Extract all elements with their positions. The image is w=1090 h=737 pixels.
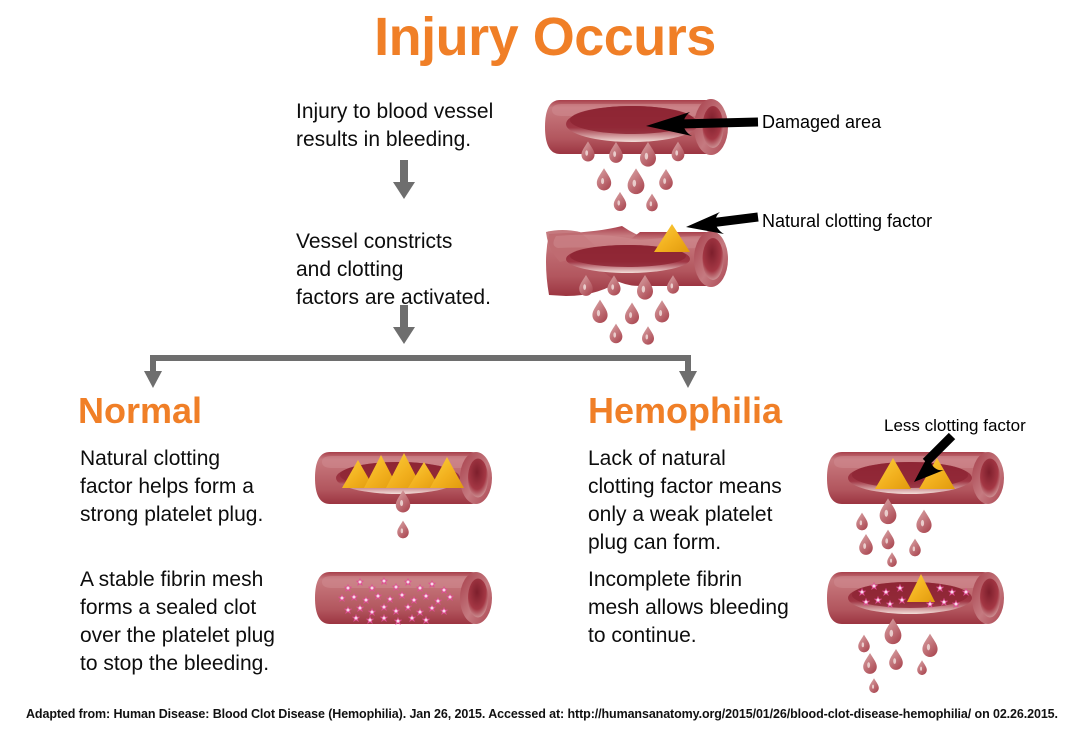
step-2-description: Vessel constricts and clotting factors a… xyxy=(296,228,546,312)
branch-title-hemophilia: Hemophilia xyxy=(588,392,782,430)
callout-label-natural-clotting-factor: Natural clotting factor xyxy=(762,211,932,232)
clotting-factor-triangles-hemophilia xyxy=(875,458,955,489)
infographic-canvas: Injury Occurs Injury to blood vessel res… xyxy=(0,0,1090,737)
fibrin-mesh-sparse xyxy=(858,582,970,608)
illustration-hemophilia-incomplete-mesh xyxy=(827,572,1004,693)
clotting-factor-triangle-step2 xyxy=(654,224,690,252)
illustration-normal-fibrin-mesh xyxy=(315,572,492,625)
fibrin-mesh-dense xyxy=(338,577,454,625)
pointer-arrow-natural-clotting-factor xyxy=(686,212,758,234)
blood-drops-hemophilia-row2 xyxy=(858,618,937,693)
illustration-hemophilia-weak-plug xyxy=(827,436,1004,567)
clotting-factor-triangle-hemophilia-row2 xyxy=(907,574,935,602)
blood-drops-hemophilia-row1 xyxy=(856,498,931,567)
normal-row-1-description: Natural clotting factor helps form a str… xyxy=(80,445,320,529)
blood-drops-step1 xyxy=(581,141,684,211)
hemophilia-row-1-description: Lack of natural clotting factor means on… xyxy=(588,445,838,557)
normal-row-2-description: A stable fibrin mesh forms a sealed clot… xyxy=(80,566,330,678)
clotting-factor-triangles-normal xyxy=(342,453,464,488)
callout-label-damaged-area: Damaged area xyxy=(762,112,881,133)
pointer-arrow-damaged-area xyxy=(646,112,758,136)
step-1-description: Injury to blood vessel results in bleedi… xyxy=(296,98,556,154)
source-citation: Adapted from: Human Disease: Blood Clot … xyxy=(26,707,1071,721)
branch-connector xyxy=(144,355,697,388)
pointer-arrow-less-clotting-factor xyxy=(914,436,952,482)
flow-arrow-step1-to-step2 xyxy=(393,160,415,199)
callout-label-less-clotting-factor: Less clotting factor xyxy=(884,416,1026,436)
blood-drops-step2 xyxy=(579,275,679,345)
illustration-normal-platelet-plug xyxy=(315,452,492,538)
branch-title-normal: Normal xyxy=(78,392,202,430)
blood-drops-normal-row1 xyxy=(396,490,410,538)
hemophilia-row-2-description: Incomplete fibrin mesh allows bleeding t… xyxy=(588,566,828,650)
illustration-constricted-vessel xyxy=(546,212,758,345)
illustration-damaged-vessel xyxy=(545,99,758,211)
page-title: Injury Occurs xyxy=(0,8,1090,67)
